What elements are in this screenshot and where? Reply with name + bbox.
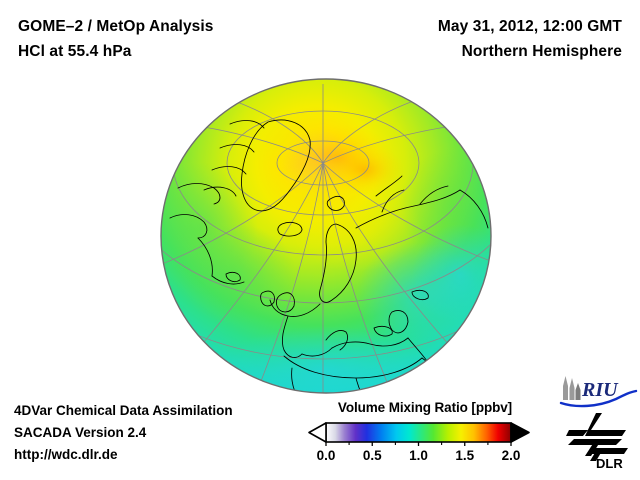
hemisphere-label: Northern Hemisphere — [438, 39, 622, 64]
colorbar-tick-1: 0.5 — [363, 448, 382, 463]
header-left: GOME–2 / MetOp Analysis HCl at 55.4 hPa — [18, 14, 214, 64]
page-title: GOME–2 / MetOp Analysis — [18, 14, 214, 39]
cathedral-spires-icon — [563, 376, 581, 400]
dlr-logo: DLR — [566, 412, 632, 470]
dlr-wordmark: DLR — [596, 456, 623, 470]
footer-method-label: 4DVar Chemical Data Assimilation — [14, 400, 233, 422]
footer-url-link[interactable]: http://wdc.dlr.de — [14, 444, 233, 466]
colorbar: Volume Mixing Ratio [ppbv] — [300, 400, 550, 466]
footer-left: 4DVar Chemical Data Assimilation SACADA … — [14, 400, 233, 466]
header-right: May 31, 2012, 12:00 GMT Northern Hemisph… — [438, 14, 622, 64]
colorbar-under-arrow-icon — [309, 423, 326, 442]
colorbar-over-arrow-icon — [511, 423, 529, 442]
timestamp-label: May 31, 2012, 12:00 GMT — [438, 14, 622, 39]
colorbar-tick-0: 0.0 — [317, 448, 336, 463]
page-subtitle-species-level: HCl at 55.4 hPa — [18, 39, 214, 64]
footer-version-label: SACADA Version 2.4 — [14, 422, 233, 444]
colorbar-gradient — [326, 423, 511, 442]
colorbar-tick-labels: 0.0 0.5 1.0 1.5 2.0 — [300, 448, 550, 466]
colorbar-scale[interactable] — [300, 421, 550, 447]
colorbar-tick-2: 1.0 — [409, 448, 428, 463]
dlr-mark-icon — [566, 413, 628, 461]
globe-map[interactable] — [160, 78, 492, 394]
riu-logo: RIU — [558, 374, 638, 408]
colorbar-tick-3: 1.5 — [455, 448, 474, 463]
colorbar-tick-4: 2.0 — [502, 448, 521, 463]
riu-wordmark: RIU — [581, 379, 619, 401]
colorbar-title: Volume Mixing Ratio [ppbv] — [300, 400, 550, 415]
